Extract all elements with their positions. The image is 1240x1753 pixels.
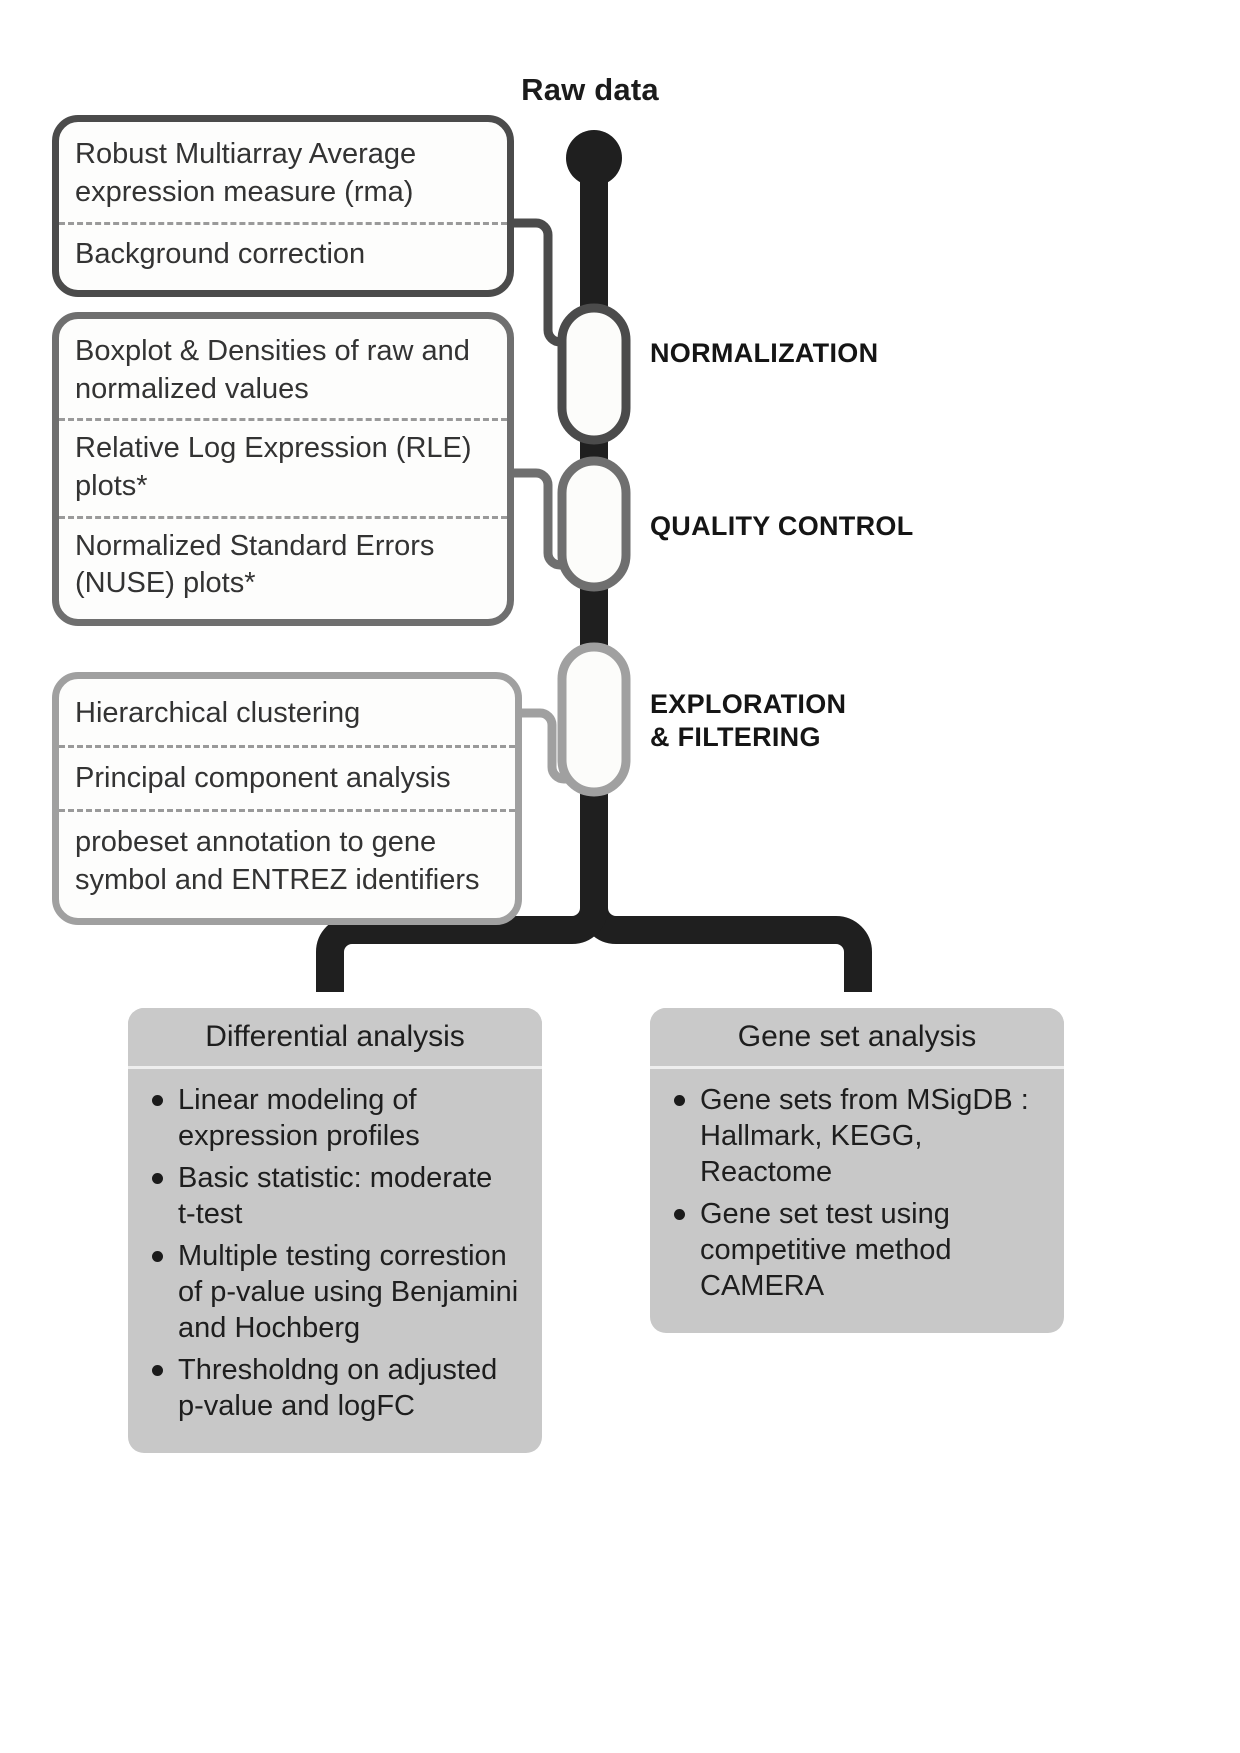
stage-box-normalization: Robust Multiarray Average expression mea… bbox=[52, 115, 514, 297]
bullet-icon bbox=[152, 1251, 163, 1262]
list-item: Linear modeling of expression profiles bbox=[150, 1083, 528, 1155]
raw-data-node bbox=[566, 130, 622, 186]
list-item-text: Basic statistic: moderate t-test bbox=[178, 1162, 492, 1230]
spine-segment-4 bbox=[580, 775, 608, 915]
panel-header: Differential analysis bbox=[128, 1008, 542, 1069]
stage-row: probeset annotation to gene symbol and E… bbox=[59, 809, 515, 917]
list-item: Gene sets from MSigDB : Hallmark, KEGG, … bbox=[672, 1083, 1050, 1191]
list-item: Gene set test using competitive method C… bbox=[672, 1197, 1050, 1305]
spine-segment-1 bbox=[580, 158, 608, 308]
connector-quality-control bbox=[510, 473, 572, 565]
stage-row: Normalized Standard Errors (NUSE) plots* bbox=[59, 516, 507, 619]
connector-exploration bbox=[518, 713, 572, 779]
stage-label-quality-control: QUALITY CONTROL bbox=[650, 510, 914, 543]
stage-row: Relative Log Expression (RLE) plots* bbox=[59, 418, 507, 515]
stage-row: Robust Multiarray Average expression mea… bbox=[59, 122, 507, 222]
spine-segment-2 bbox=[580, 395, 608, 475]
panel-header: Gene set analysis bbox=[650, 1008, 1064, 1069]
list-item-text: Multiple testing correstion of p-value u… bbox=[178, 1240, 518, 1344]
stage-row: Principal component analysis bbox=[59, 745, 515, 810]
node-normalization bbox=[562, 308, 626, 440]
stage-row: Background correction bbox=[59, 222, 507, 290]
list-item: Thresholdng on adjusted p-value and logF… bbox=[150, 1353, 528, 1425]
branch-connector bbox=[594, 880, 858, 992]
list-item-text: Thresholdng on adjusted p-value and logF… bbox=[178, 1354, 497, 1422]
stage-box-exploration: Hierarchical clustering Principal compon… bbox=[52, 672, 522, 925]
list-item-text: Linear modeling of expression profiles bbox=[178, 1084, 420, 1152]
stage-label-normalization: NORMALIZATION bbox=[650, 337, 878, 370]
output-panel-differential-analysis: Differential analysis Linear modeling of… bbox=[128, 1008, 542, 1453]
node-exploration bbox=[562, 647, 626, 792]
list-item-text: Gene sets from MSigDB : Hallmark, KEGG, … bbox=[700, 1084, 1029, 1188]
bullet-icon bbox=[152, 1173, 163, 1184]
bullet-icon bbox=[674, 1209, 685, 1220]
spine-segment-3 bbox=[580, 575, 608, 655]
diagram-canvas: Raw data Robust Multiarray Average expre… bbox=[0, 0, 1240, 1753]
stage-box-quality-control: Boxplot & Densities of raw and normalize… bbox=[52, 312, 514, 626]
bullet-icon bbox=[152, 1365, 163, 1376]
output-panel-gene-set-analysis: Gene set analysis Gene sets from MSigDB … bbox=[650, 1008, 1064, 1333]
list-item: Multiple testing correstion of p-value u… bbox=[150, 1239, 528, 1347]
bullet-icon bbox=[674, 1095, 685, 1106]
node-quality-control bbox=[562, 461, 626, 587]
page-title: Raw data bbox=[470, 72, 710, 108]
stage-row: Boxplot & Densities of raw and normalize… bbox=[59, 319, 507, 418]
connector-normalization bbox=[510, 223, 572, 342]
panel-bullet-list: Gene sets from MSigDB : Hallmark, KEGG, … bbox=[650, 1069, 1064, 1333]
panel-bullet-list: Linear modeling of expression profiles B… bbox=[128, 1069, 542, 1453]
list-item: Basic statistic: moderate t-test bbox=[150, 1161, 528, 1233]
stage-label-exploration: EXPLORATION & FILTERING bbox=[650, 688, 846, 754]
list-item-text: Gene set test using competitive method C… bbox=[700, 1198, 951, 1302]
bullet-icon bbox=[152, 1095, 163, 1106]
stage-row: Hierarchical clustering bbox=[59, 679, 515, 745]
